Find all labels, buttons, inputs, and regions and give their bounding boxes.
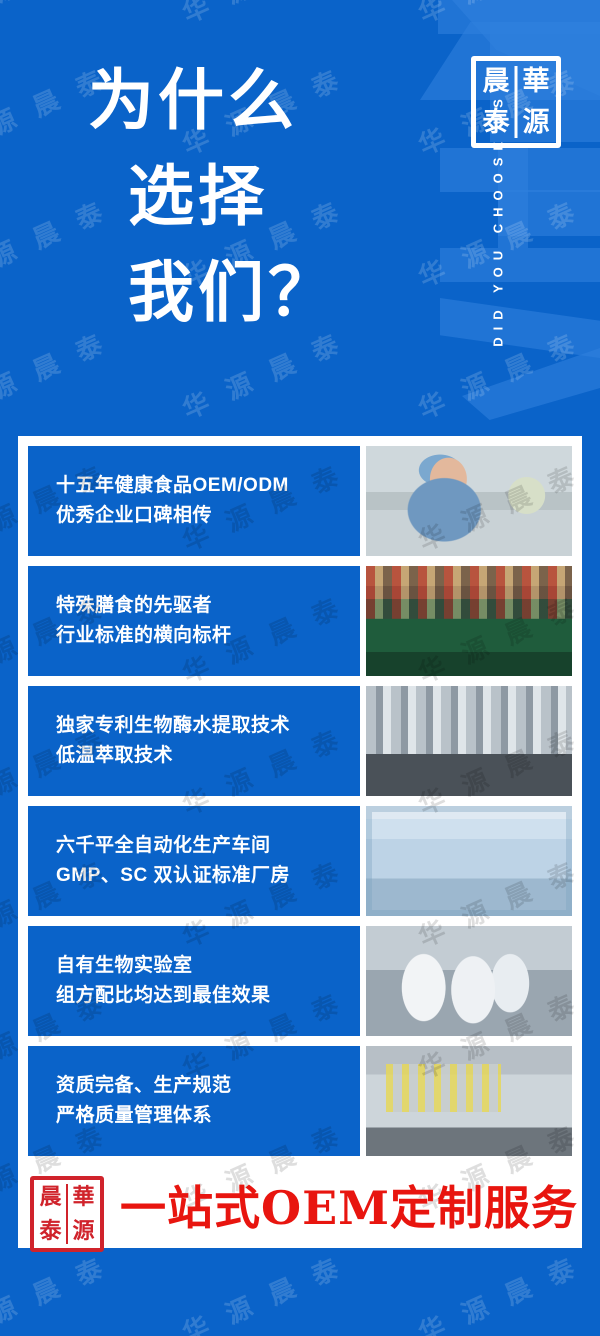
seal-char-1: 晨 (476, 61, 516, 102)
feature-image-6 (366, 1046, 572, 1156)
feature-row[interactable]: 资质完备、生产规范 严格质量管理体系 (28, 1046, 572, 1156)
feature-text-4: 六千平全自动化生产车间 GMP、SC 双认证标准厂房 (28, 806, 360, 916)
feature-line: 特殊膳食的先驱者 (56, 591, 360, 621)
title-line-1: 为什么 (88, 52, 338, 148)
seal-char-3: 泰 (476, 102, 516, 143)
feature-row[interactable]: 自有生物实验室 组方配比均达到最佳效果 (28, 926, 572, 1036)
feature-line: 资质完备、生产规范 (56, 1071, 360, 1101)
feature-line: 十五年健康食品OEM/ODM (56, 471, 360, 501)
feature-text-3: 独家专利生物酶水提取技术 低温萃取技术 (28, 686, 360, 796)
bg-shape-8 (440, 248, 600, 282)
footer-seal-char-3: 泰 (34, 1214, 67, 1248)
feature-line: 低温萃取技术 (56, 741, 360, 771)
feature-text-2: 特殊膳食的先驱者 行业标准的横向标杆 (28, 566, 360, 676)
footer-slogan: 一站式OEM定制服务 (120, 1180, 578, 1236)
vertical-caption-wrap: DID YOU CHOOSE US (395, 0, 435, 420)
watermark: 华 源 晨 泰 (176, 1246, 349, 1336)
footer-seal-char-2: 華 (67, 1180, 100, 1214)
bg-shape-7 (498, 190, 600, 236)
feature-image-3 (366, 686, 572, 796)
title-line-2: 选择 (88, 148, 338, 244)
feature-image-5 (366, 926, 572, 1036)
brand-seal-logo: 晨 華 泰 源 (471, 56, 561, 148)
seal-char-2: 華 (516, 61, 556, 102)
title-line-3: 我们？ (88, 244, 338, 340)
feature-text-5: 自有生物实验室 组方配比均达到最佳效果 (28, 926, 360, 1036)
feature-line: 独家专利生物酶水提取技术 (56, 711, 360, 741)
feature-text-1: 十五年健康食品OEM/ODM 优秀企业口碑相传 (28, 446, 360, 556)
feature-line: 组方配比均达到最佳效果 (56, 981, 360, 1011)
watermark: 华 源 晨 泰 (0, 1246, 113, 1336)
feature-line: GMP、SC 双认证标准厂房 (56, 861, 360, 891)
bg-shape-9 (440, 298, 600, 358)
feature-line: 优秀企业口碑相传 (56, 501, 360, 531)
feature-line: 严格质量管理体系 (56, 1101, 360, 1131)
feature-line: 行业标准的横向标杆 (56, 621, 360, 651)
feature-line: 六千平全自动化生产车间 (56, 831, 360, 861)
hero-title: 为什么 选择 我们？ (88, 52, 338, 340)
feature-row[interactable]: 独家专利生物酶水提取技术 低温萃取技术 (28, 686, 572, 796)
seal-char-4: 源 (516, 102, 556, 143)
feature-list: 十五年健康食品OEM/ODM 优秀企业口碑相传 特殊膳食的先驱者 行业标准的横向… (28, 446, 572, 1156)
feature-image-1 (366, 446, 572, 556)
feature-line: 自有生物实验室 (56, 951, 360, 981)
feature-row[interactable]: 十五年健康食品OEM/ODM 优秀企业口碑相传 (28, 446, 572, 556)
feature-image-2 (366, 566, 572, 676)
feature-row[interactable]: 特殊膳食的先驱者 行业标准的横向标杆 (28, 566, 572, 676)
watermark: 华 源 晨 泰 (412, 1246, 585, 1336)
feature-row[interactable]: 六千平全自动化生产车间 GMP、SC 双认证标准厂房 (28, 806, 572, 916)
footer-seal-char-1: 晨 (34, 1180, 67, 1214)
footer-seal-logo: 晨 華 泰 源 (30, 1176, 104, 1252)
feature-image-4 (366, 806, 572, 916)
footer-seal-char-4: 源 (67, 1214, 100, 1248)
feature-text-6: 资质完备、生产规范 严格质量管理体系 (28, 1046, 360, 1156)
